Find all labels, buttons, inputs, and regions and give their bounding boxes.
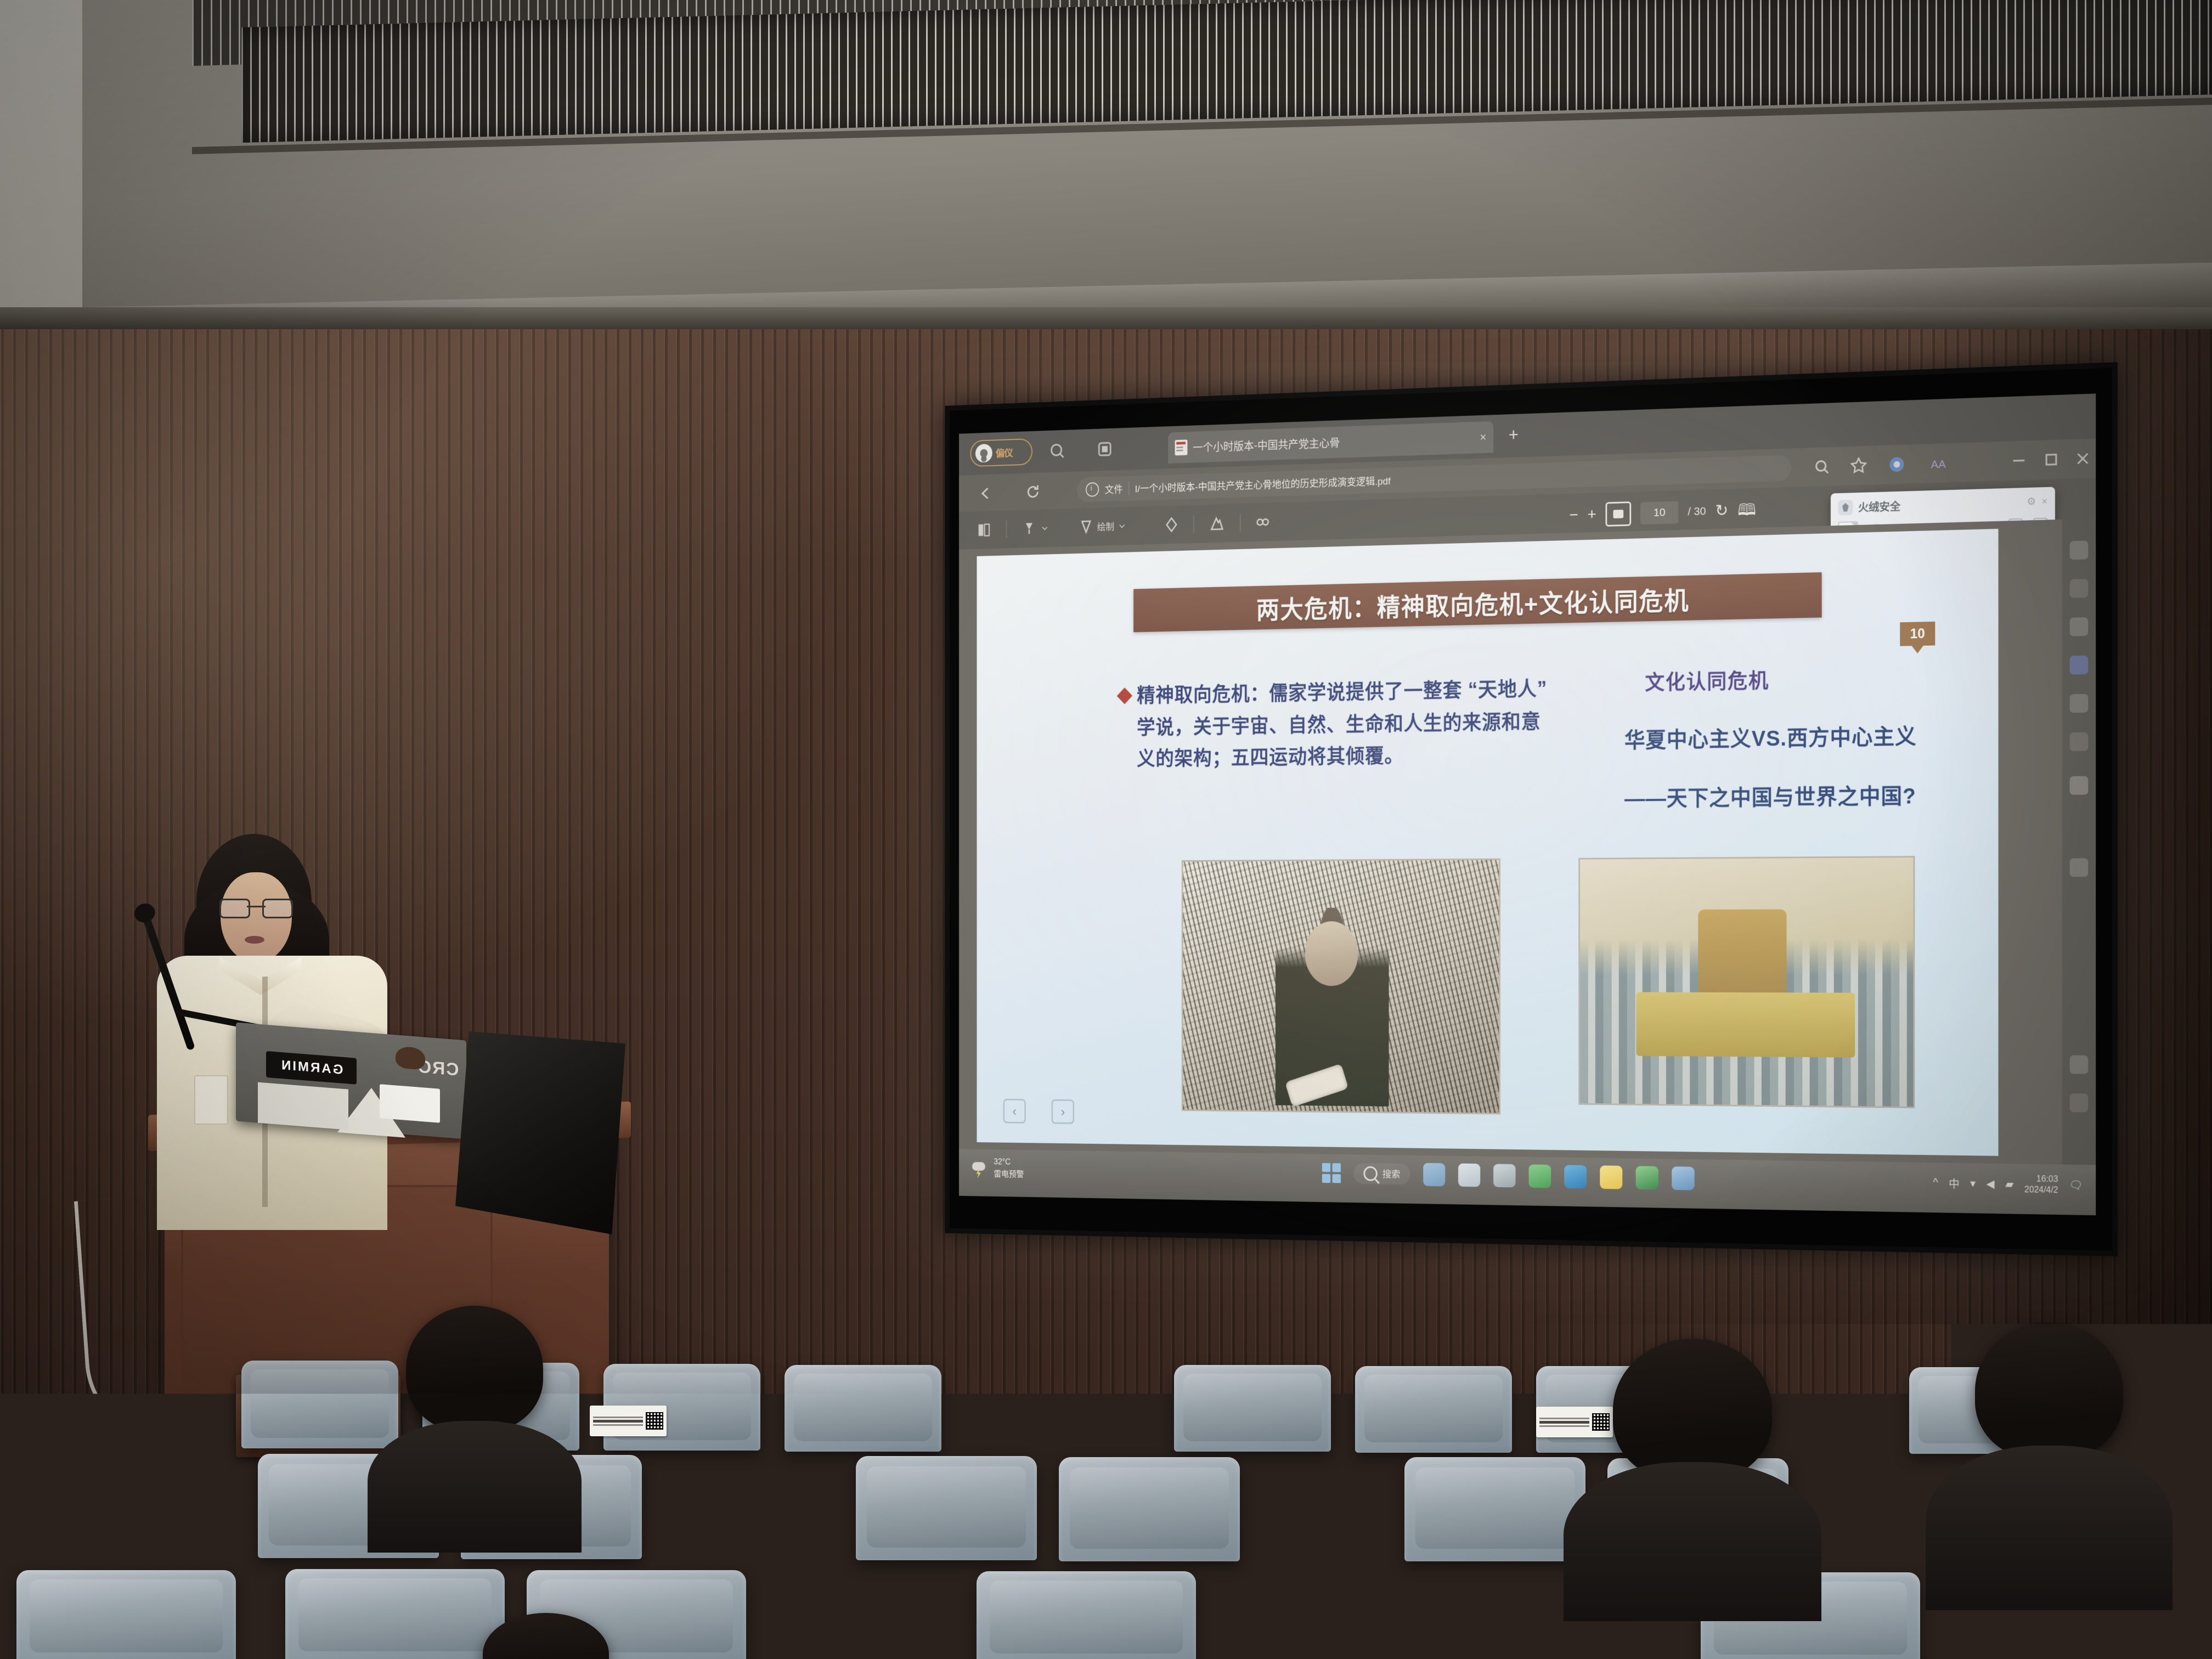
seat bbox=[1174, 1365, 1331, 1452]
slide-right-line-1: 华夏中心主义VS.西方中心主义 bbox=[1624, 718, 1992, 754]
rail-icon-4[interactable] bbox=[2070, 656, 2089, 675]
profile-badge-icon[interactable]: AA bbox=[1928, 453, 1947, 473]
seat bbox=[241, 1361, 398, 1448]
weather-storm-icon bbox=[970, 1158, 989, 1179]
draw-tool-label: 绘制 bbox=[1097, 520, 1114, 533]
slide-right-column: 文化认同危机 华夏中心主义VS.西方中心主义 ——天下之中国与世界之中国? bbox=[1624, 659, 1992, 812]
taskbar-weather-widget[interactable]: 32°C 雷电预警 bbox=[970, 1158, 1024, 1180]
notification-icon[interactable]: 🗨 bbox=[2069, 1178, 2083, 1192]
taskbar-center-group: 搜索 bbox=[1322, 1161, 1695, 1190]
tab-close-icon[interactable]: × bbox=[1480, 430, 1486, 444]
text-tool-icon[interactable] bbox=[1255, 512, 1271, 532]
volume-icon[interactable]: ◀ bbox=[1987, 1177, 1995, 1190]
painting-throne bbox=[1698, 909, 1786, 1006]
profile-avatar-icon bbox=[975, 444, 992, 462]
eraser-tool-icon[interactable] bbox=[1163, 515, 1180, 535]
ime-indicator[interactable]: 中 bbox=[1949, 1175, 1960, 1191]
taskbar-app-weather[interactable] bbox=[1493, 1164, 1515, 1188]
rail-icon-10[interactable] bbox=[2070, 1093, 2089, 1112]
ceiling bbox=[0, 0, 2212, 384]
gear-icon[interactable]: ⚙ bbox=[2027, 495, 2036, 508]
popup-title: 火绒安全 bbox=[1858, 498, 1900, 515]
current-page-value: 10 bbox=[1654, 506, 1666, 520]
rail-icon-6[interactable] bbox=[2070, 732, 2089, 751]
page-total-label: / 30 bbox=[1688, 505, 1706, 518]
read-aloud-icon[interactable]: 🕮 bbox=[1737, 502, 1756, 518]
shape-tool-icon[interactable] bbox=[1209, 513, 1225, 534]
slide-right-line-2: ——天下之中国与世界之中国? bbox=[1624, 777, 1992, 812]
photo-card-sticker bbox=[380, 1084, 440, 1123]
seat bbox=[1059, 1457, 1240, 1561]
rail-icon-5[interactable] bbox=[2070, 694, 2089, 713]
browser-tab-active[interactable]: 一个小时版本-中国共产党主心骨 × bbox=[1168, 421, 1493, 464]
seat bbox=[1355, 1366, 1512, 1453]
slide-title-banner: 两大危机：精神取向危机+文化认同危机 bbox=[1133, 572, 1822, 632]
qr-code-icon bbox=[646, 1412, 663, 1430]
window-close-icon[interactable] bbox=[2073, 448, 2093, 469]
tab-title: 一个小时版本-中国共产党主心骨 bbox=[1193, 430, 1474, 455]
taskbar-clock[interactable]: 16:03 2024/4/2 bbox=[2024, 1174, 2058, 1196]
taskbar-app-widgets[interactable] bbox=[1423, 1163, 1445, 1187]
painting-table bbox=[1637, 992, 1855, 1057]
profile-label: 偏仪 bbox=[996, 445, 1013, 460]
search-icon bbox=[1363, 1166, 1377, 1181]
floor bbox=[0, 1593, 2212, 1659]
lecture-hall-photo: 偏仪 一个小时版本-中国共产党主心骨 × + bbox=[0, 0, 2212, 1659]
seat bbox=[856, 1456, 1037, 1560]
rail-icon-1[interactable] bbox=[2070, 540, 2089, 560]
taskbar-app-excel[interactable] bbox=[1636, 1166, 1658, 1189]
black-cloth-bag bbox=[455, 1031, 625, 1234]
tab-search-icon[interactable] bbox=[1048, 441, 1065, 460]
attendee-head bbox=[406, 1306, 543, 1432]
rail-icon-3[interactable] bbox=[2070, 617, 2089, 636]
back-arrow-icon[interactable] bbox=[978, 484, 994, 502]
highlight-tool-icon[interactable] bbox=[1021, 518, 1049, 539]
start-icon[interactable] bbox=[1322, 1163, 1341, 1183]
bear-sticker bbox=[396, 1046, 425, 1070]
clock-time: 16:03 bbox=[2036, 1174, 2058, 1185]
taskbar-app-edge[interactable] bbox=[1564, 1165, 1587, 1188]
white-sticker bbox=[258, 1082, 348, 1130]
weather-alert: 雷电预警 bbox=[994, 1167, 1024, 1180]
pdf-page-nav: ‹ › bbox=[1003, 1099, 1075, 1124]
wifi-icon[interactable]: ▾ bbox=[1970, 1177, 1976, 1190]
taskbar-app-file-explorer[interactable] bbox=[1458, 1164, 1480, 1187]
info-circle-icon[interactable] bbox=[1086, 482, 1099, 497]
seat-label-lines bbox=[593, 1417, 643, 1426]
garmin-sticker: GARMIN bbox=[266, 1051, 357, 1085]
garmin-sticker-text: GARMIN bbox=[280, 1058, 343, 1078]
star-icon[interactable] bbox=[1849, 455, 1869, 475]
maximize-icon[interactable] bbox=[2041, 449, 2061, 470]
search-placeholder: 搜索 bbox=[1383, 1167, 1401, 1181]
rail-icon-9[interactable] bbox=[2070, 1055, 2089, 1074]
tray-overflow-icon[interactable]: ^ bbox=[1933, 1177, 1938, 1189]
pdf-viewport[interactable]: 两大危机：精神取向危机+文化认同危机 10 精神取向危机：儒家学说提供了一整套 … bbox=[959, 520, 2062, 1165]
ceiling-edge bbox=[0, 307, 2212, 329]
speaker-badge bbox=[194, 1075, 228, 1125]
app-side-rail bbox=[2062, 518, 2096, 1215]
new-tab-button[interactable]: + bbox=[1509, 426, 1519, 444]
slide-page-badge: 10 bbox=[1900, 622, 1935, 646]
presenter-laptop: GARMIN CRC bbox=[236, 1022, 466, 1139]
projection-surface: 偏仪 一个小时版本-中国共产党主心骨 × + bbox=[950, 368, 2112, 1250]
next-page-button[interactable]: › bbox=[1051, 1099, 1074, 1124]
attendee-head bbox=[1613, 1339, 1772, 1481]
seat-qr-label bbox=[1536, 1407, 1613, 1437]
seat-label-lines bbox=[1539, 1418, 1589, 1427]
minimize-icon[interactable] bbox=[2009, 450, 2028, 471]
audience-seating bbox=[0, 1355, 2212, 1659]
taskbar-app-browser[interactable] bbox=[1672, 1166, 1694, 1190]
rotate-icon[interactable]: ↻ bbox=[1716, 503, 1729, 520]
projection-screen: 偏仪 一个小时版本-中国共产党主心骨 × + bbox=[945, 362, 2118, 1256]
attendee-head bbox=[1975, 1322, 2123, 1459]
pdf-favicon bbox=[1175, 439, 1188, 455]
extension-icon[interactable] bbox=[1887, 454, 1906, 475]
huorong-shield-icon bbox=[1838, 500, 1853, 515]
taskbar-app-folder[interactable] bbox=[1600, 1165, 1622, 1189]
speaker-mouth bbox=[245, 936, 264, 944]
reload-icon[interactable] bbox=[1025, 483, 1041, 501]
tab-list-icon[interactable] bbox=[1096, 439, 1113, 459]
popup-header: 火绒安全 ⚙ × bbox=[1838, 494, 2047, 516]
attendee-shoulders bbox=[1926, 1446, 2172, 1610]
battery-icon[interactable]: ▰ bbox=[2005, 1177, 2013, 1191]
taskbar-system-tray: ^ 中 ▾ ◀ ▰ 16:03 2024/4/2 🗨 bbox=[1933, 1172, 2083, 1196]
weather-temperature: 32°C bbox=[994, 1158, 1024, 1167]
toolbar-divider bbox=[1006, 521, 1007, 538]
slide-title-text: 两大危机：精神取向危机+文化认同危机 bbox=[1256, 579, 1690, 625]
url-text: I/一个小时版本-中国共产党主心骨地位的历史形成演变逻辑.pdf bbox=[1135, 473, 1391, 495]
close-icon[interactable]: × bbox=[2041, 495, 2047, 507]
thumbnail-panel-icon[interactable] bbox=[976, 520, 992, 540]
draw-tool-icon[interactable]: 绘制 bbox=[1078, 516, 1127, 537]
slide-left-column: 精神取向危机：儒家学说提供了一整套 “天地人” 学说，关于宇宙、自然、生命和人生… bbox=[1119, 673, 1553, 776]
browser-window[interactable]: 偏仪 一个小时版本-中国共产党主心骨 × + bbox=[959, 393, 2096, 1215]
zoom-out-button[interactable]: − bbox=[1570, 507, 1578, 523]
url-scheme-label: 文件 bbox=[1105, 482, 1123, 496]
svg-text:AA: AA bbox=[1931, 458, 1946, 471]
seat bbox=[785, 1365, 941, 1452]
current-page-input[interactable]: 10 bbox=[1640, 501, 1678, 524]
browser-profile-pill[interactable]: 偏仪 bbox=[970, 438, 1032, 467]
page-zoom-icon[interactable] bbox=[1812, 457, 1831, 477]
fit-page-icon[interactable] bbox=[1606, 501, 1632, 527]
rail-icon-7[interactable] bbox=[2070, 776, 2089, 795]
prev-page-button[interactable]: ‹ bbox=[1003, 1099, 1026, 1124]
rail-icon-2[interactable] bbox=[2070, 579, 2089, 598]
attendee-shoulders bbox=[368, 1421, 582, 1553]
qr-code-icon bbox=[1592, 1413, 1610, 1431]
toolbar-divider bbox=[1240, 514, 1241, 532]
omnibox-divider bbox=[1128, 482, 1129, 495]
speaker-glasses bbox=[219, 899, 293, 916]
slide-image-painting bbox=[1578, 856, 1915, 1108]
taskbar-app-wechat[interactable] bbox=[1529, 1164, 1551, 1188]
slide-left-text: 精神取向危机：儒家学说提供了一整套 “天地人” 学说，关于宇宙、自然、生命和人生… bbox=[1137, 673, 1553, 776]
diamond-bullet-icon bbox=[1117, 687, 1132, 704]
slide-image-woodcut bbox=[1182, 859, 1500, 1115]
rail-icon-8[interactable] bbox=[2070, 858, 2089, 877]
slide-page-badge-text: 10 bbox=[1910, 626, 1925, 642]
zoom-in-button[interactable]: + bbox=[1588, 507, 1596, 523]
slide-right-heading: 文化认同危机 bbox=[1645, 659, 1991, 695]
toolbar-divider bbox=[1193, 515, 1194, 533]
seat bbox=[1404, 1457, 1585, 1561]
seat-qr-label bbox=[590, 1406, 667, 1436]
clock-date: 2024/4/2 bbox=[2024, 1184, 2058, 1195]
slide-page: 两大危机：精神取向危机+文化认同危机 10 精神取向危机：儒家学说提供了一整套 … bbox=[977, 529, 1999, 1156]
taskbar-search-box[interactable]: 搜索 bbox=[1353, 1163, 1410, 1185]
